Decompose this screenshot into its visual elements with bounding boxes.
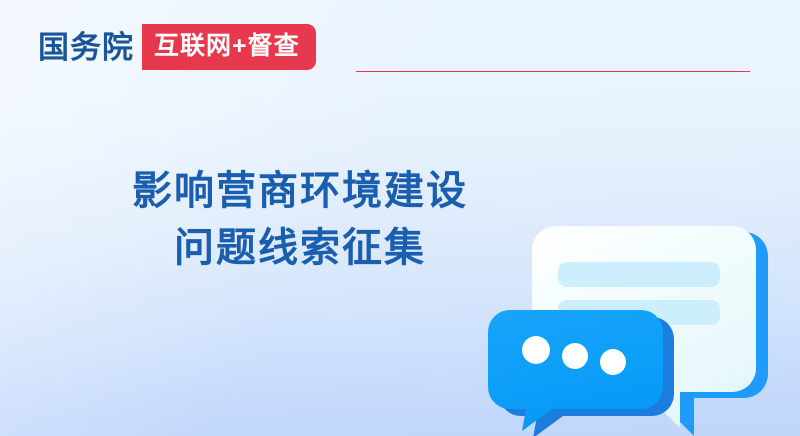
status-badge: 互联网+督查 [142, 24, 316, 70]
typing-dot [522, 336, 550, 364]
page-title-line-2: 问题线索征集 [0, 220, 600, 277]
page-title: 影响营商环境建设 问题线索征集 [0, 163, 600, 277]
typing-dot [600, 349, 626, 375]
typing-dot [562, 343, 588, 369]
page-title-line-1: 影响营商环境建设 [0, 163, 600, 220]
header: 国务院 互联网+督查 [38, 24, 316, 70]
gov-name-label: 国务院 [38, 32, 134, 63]
header-divider [356, 71, 750, 72]
banner-container: 国务院 互联网+督查 影响营商环境建设 问题线索征集 [0, 0, 800, 436]
